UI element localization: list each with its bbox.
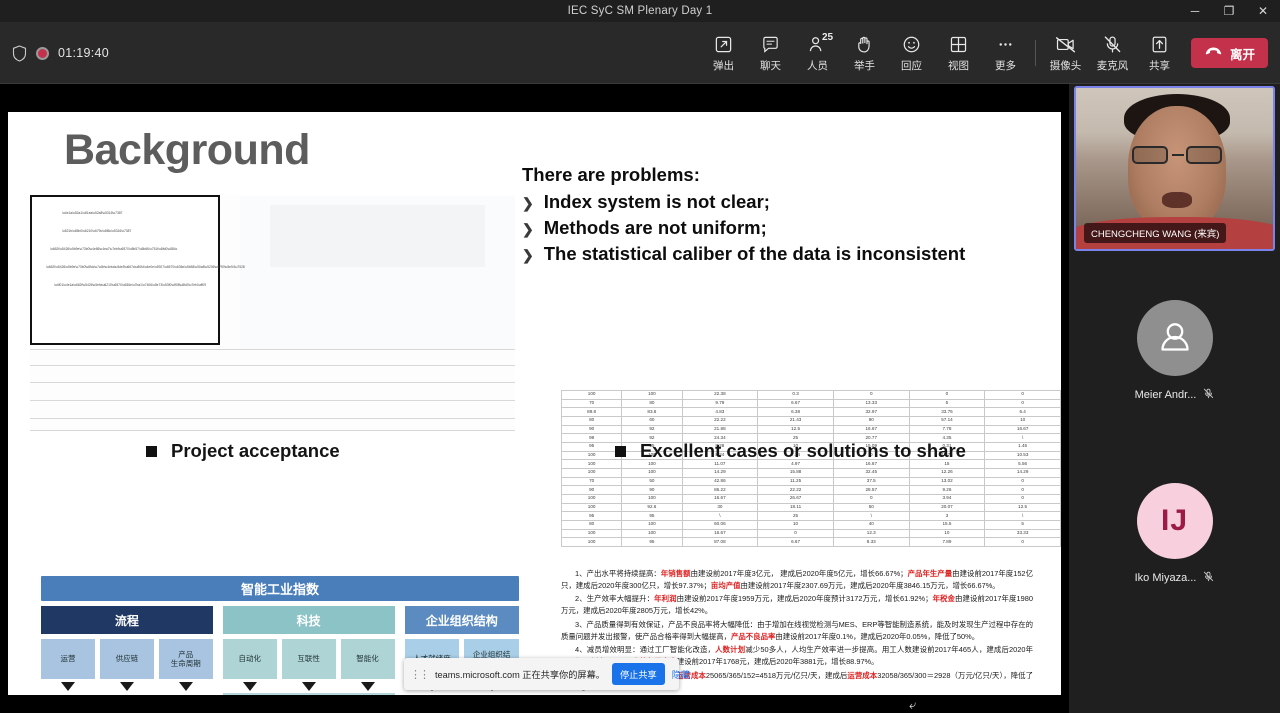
table-row: 1009587.086.678.337.890 — [562, 538, 1061, 547]
people-count: 25 — [822, 32, 833, 43]
table-cell: 14.29 — [682, 469, 758, 478]
shared-content-stage[interactable]: Background \u4e1a\u52a1\u81ea\u52a8\u531… — [0, 84, 1069, 713]
table-row: 806022.2221.439057.1410 — [562, 417, 1061, 426]
mouse-cursor-icon: ⤶ — [909, 697, 916, 713]
subcell: 自动化 — [223, 639, 277, 679]
table-cell: 0 — [833, 391, 909, 400]
table-cell: 86.22 — [682, 486, 758, 495]
table-row: 89.883.64.836.3832.9733.756.4 — [562, 408, 1061, 417]
diagram-column-technology: 科技 自动化 互联性 智能化 制造现场 — [223, 606, 395, 695]
table-cell: 26.67 — [758, 495, 834, 504]
down-arrow-icon — [100, 682, 154, 691]
mouth-shape — [1162, 192, 1192, 208]
table-cell: 70 — [562, 477, 622, 486]
table-row: 909086.2222.2228.579.260 — [562, 486, 1061, 495]
reactions-label: 回应 — [901, 58, 922, 73]
table-cell: 57.14 — [909, 417, 985, 426]
table-cell: 95 — [622, 538, 682, 547]
reactions-button[interactable]: 回应 — [888, 26, 935, 80]
table-cell: 42.86 — [682, 477, 758, 486]
hang-up-icon — [1204, 44, 1223, 62]
toolbar-actions: 弹出 聊天 25 人员 举手 — [700, 22, 1268, 84]
camera-toggle-button[interactable]: 摄像头 — [1042, 26, 1089, 80]
table-cell: 21.88 — [682, 425, 758, 434]
table-cell: 1.45 — [985, 443, 1061, 452]
arrow-bullet-icon: ❯ — [522, 247, 534, 264]
view-label: 视图 — [948, 58, 969, 73]
more-icon — [996, 33, 1015, 55]
table-cell: 10 — [909, 529, 985, 538]
active-speaker-video-tile[interactable]: CHENGCHENG WANG (来宾) — [1074, 86, 1275, 251]
diagram-title: 智能工业指数 — [41, 576, 519, 601]
table-cell: 98 — [562, 434, 622, 443]
recording-indicator-icon — [36, 47, 49, 60]
view-icon — [949, 33, 968, 55]
table-cell: 16.67 — [682, 529, 758, 538]
table-cell: 5 — [909, 399, 985, 408]
table-cell: 15.88 — [758, 469, 834, 478]
data-table: 10010022.380.300070809.796.6713.335089.8… — [561, 390, 1061, 547]
avatar — [1137, 300, 1213, 376]
table-cell: \ — [682, 512, 758, 521]
more-label: 更多 — [995, 58, 1016, 73]
column-arrows — [41, 679, 213, 693]
participant-name: Meier Andr... — [1135, 389, 1197, 401]
table-cell: 50 — [622, 477, 682, 486]
reactions-icon — [902, 33, 921, 55]
table-cell: 100 — [562, 503, 622, 512]
participant-name-row: Meier Andr... — [1135, 386, 1215, 404]
teams-meeting-window: IEC SyC SM Plenary Day 1 ─ ❐ ✕ 01:19:40 … — [0, 0, 1280, 713]
microphone-label: 麦克风 — [1097, 58, 1129, 73]
table-cell: 100 — [562, 529, 622, 538]
table-cell: 32.97 — [833, 408, 909, 417]
list-item: ❯Index system is not clear; — [522, 191, 965, 213]
microphone-toggle-button[interactable]: 麦克风 — [1089, 26, 1136, 80]
table-cell: 28.57 — [833, 486, 909, 495]
numeric-data-table: 10010022.380.300070809.796.6713.335089.8… — [561, 390, 1061, 535]
table-cell: 10 — [758, 521, 834, 530]
subcell: 智能化 — [341, 639, 395, 679]
table-cell: 18.11 — [758, 503, 834, 512]
view-button[interactable]: 视图 — [935, 26, 982, 80]
problems-heading: There are problems: — [522, 164, 965, 186]
table-cell: 100 — [562, 538, 622, 547]
problem-text: The statistical caliber of the data is i… — [544, 243, 966, 265]
participant-tile-0[interactable]: Meier Andr... — [1074, 269, 1275, 434]
paragraph: 1、产出水平将持续提高：年销售额由建设前2017年度3亿元， 建成后2020年度… — [561, 568, 1033, 592]
table-row: 10010016.6726.6703.940 — [562, 495, 1061, 504]
list-item: ❯The statistical caliber of the data is … — [522, 243, 965, 265]
chat-label: 聊天 — [760, 58, 781, 73]
table-row: 70809.796.6713.3350 — [562, 399, 1061, 408]
table-cell: 0 — [985, 399, 1061, 408]
minimize-button[interactable]: ─ — [1178, 0, 1212, 22]
table-cell: 12.3 — [833, 529, 909, 538]
table-cell: 40 — [833, 521, 909, 530]
technology-item-grid: 制造现场 企业营运 制造设施 — [223, 693, 395, 695]
presentation-slide: Background \u4e1a\u52a1\u81ea\u52a8\u531… — [8, 112, 1061, 695]
table-cell: 12.5 — [758, 425, 834, 434]
window-controls: ─ ❐ ✕ — [1178, 0, 1280, 22]
table-cell: 9.26 — [909, 486, 985, 495]
table-cell: 0 — [833, 495, 909, 504]
subcell: 互联性 — [282, 639, 336, 679]
list-item: ❯Methods are not uniform; — [522, 217, 965, 239]
table-cell: 10 — [985, 417, 1061, 426]
table-row: 705042.8611.2537.513.020 — [562, 477, 1061, 486]
table-cell: 95 — [562, 512, 622, 521]
table-cell: 22.22 — [758, 486, 834, 495]
arrow-bullet-icon: ❯ — [522, 195, 534, 212]
pop-out-button[interactable]: 弹出 — [700, 26, 747, 80]
table-cell: 80 — [562, 417, 622, 426]
table-cell: 16.67 — [682, 495, 758, 504]
table-row: 10010022.380.3000 — [562, 391, 1061, 400]
caption-excellent-cases: Excellent cases or solutions to share — [615, 440, 966, 462]
table-cell: 7.89 — [909, 538, 985, 547]
column-header: 企业组织结构 — [405, 606, 520, 634]
table-cell: \ — [985, 434, 1061, 443]
share-screen-button[interactable]: 共享 — [1136, 26, 1183, 80]
down-arrow-icon — [223, 682, 277, 691]
table-cell: 12.26 — [909, 469, 985, 478]
table-cell: 6.38 — [758, 408, 834, 417]
table-cell: 90 — [833, 417, 909, 426]
table-cell: 50 — [833, 503, 909, 512]
table-cell: 100 — [622, 391, 682, 400]
down-arrow-icon — [341, 682, 395, 691]
table-cell: 87.08 — [682, 538, 758, 547]
table-cell: 89.8 — [562, 408, 622, 417]
table-cell: 16.67 — [985, 425, 1061, 434]
table-cell: 5 — [985, 521, 1061, 530]
leave-call-button[interactable]: 离开 — [1191, 38, 1268, 68]
people-label: 人员 — [807, 58, 828, 73]
table-cell: 11.25 — [758, 477, 834, 486]
window-title: IEC SyC SM Plenary Day 1 — [568, 5, 713, 17]
table-cell: 90 — [562, 486, 622, 495]
table-cell: 20.07 — [909, 503, 985, 512]
table-cell: 33.75 — [909, 408, 985, 417]
column-subcells: 运营 供应链 产品 生命周期 — [41, 639, 213, 679]
table-cell: 0 — [985, 495, 1061, 504]
table-cell: 10.53 — [985, 451, 1061, 460]
pop-out-label: 弹出 — [713, 58, 734, 73]
table-cell: 3 — [909, 512, 985, 521]
paragraph: 3、产品质量得到有效保证，产品不良品率将大幅降低：由于增加在线视觉检测与MES、… — [561, 619, 1033, 643]
table-cell: 0.3 — [758, 391, 834, 400]
table-cell: 13.33 — [833, 399, 909, 408]
column-arrows — [223, 679, 395, 693]
pop-out-icon — [714, 33, 733, 55]
table-cell: 100 — [562, 469, 622, 478]
table-row: 909221.8812.516.677.7816.67 — [562, 425, 1061, 434]
problem-text: Methods are not uniform; — [544, 217, 767, 239]
bullet-square-icon — [615, 446, 626, 457]
microphone-off-icon — [1103, 33, 1122, 55]
table-row: 10092.63018.115020.0712.5 — [562, 503, 1061, 512]
hide-notification-link[interactable]: 隐藏 — [672, 667, 690, 681]
screen-share-notification[interactable]: ⋮⋮ teams.microsoft.com 正在共享你的屏幕。 停止共享 隐藏 — [404, 658, 679, 690]
column-header: 科技 — [223, 606, 395, 634]
face-shape — [1128, 106, 1226, 231]
participant-tile-1[interactable]: IJ Iko Miyaza... — [1074, 452, 1275, 617]
muted-microphone-icon — [1203, 386, 1214, 404]
table-cell: 7.78 — [909, 425, 985, 434]
down-arrow-icon — [41, 682, 95, 691]
more-button[interactable]: 更多 — [982, 26, 1029, 80]
table-cell: 15.5 — [909, 521, 985, 530]
table-cell: 14.29 — [985, 469, 1061, 478]
toolbar-left-group: 01:19:40 — [12, 22, 109, 84]
maximize-button[interactable]: ❐ — [1212, 0, 1246, 22]
column-subcells: 自动化 互联性 智能化 — [223, 639, 395, 679]
participant-name: Iko Miyaza... — [1135, 572, 1197, 584]
table-cell: 32.45 — [833, 469, 909, 478]
participants-rail: CHENGCHENG WANG (来宾) Meier Andr... IJ Ik… — [1069, 84, 1280, 713]
camera-off-icon — [1055, 33, 1076, 55]
table-cell: 83.6 — [622, 408, 682, 417]
table-cell: 100 — [622, 529, 682, 538]
table-cell: 100 — [622, 495, 682, 504]
active-speaker-name: CHENGCHENG WANG (来宾) — [1084, 223, 1226, 243]
problem-text: Index system is not clear; — [544, 191, 770, 213]
table-cell: \ — [833, 512, 909, 521]
down-arrow-icon — [282, 682, 336, 691]
table-cell: 100 — [622, 469, 682, 478]
participant-name-row: Iko Miyaza... — [1135, 569, 1215, 587]
problems-list: ❯Index system is not clear; ❯Methods are… — [522, 191, 965, 265]
table-cell: 6.67 — [758, 399, 834, 408]
caption-text: Excellent cases or solutions to share — [640, 440, 966, 462]
caption-project-acceptance: Project acceptance — [146, 440, 340, 462]
drag-handle-icon[interactable]: ⋮⋮ — [410, 668, 428, 681]
paragraph: 2、生产效率大幅提升：年利润由建设前2017年度1959万元，建成后2020年度… — [561, 593, 1033, 617]
muted-microphone-icon — [1203, 569, 1214, 587]
table-cell: 80 — [562, 521, 622, 530]
chat-icon — [761, 33, 780, 55]
table-cell: 95 — [622, 512, 682, 521]
table-cell: 70 — [562, 399, 622, 408]
toolbar-divider — [1035, 40, 1036, 66]
share-label: 共享 — [1149, 58, 1170, 73]
close-button[interactable]: ✕ — [1246, 0, 1280, 22]
table-row: 10010016.67012.31033.33 — [562, 529, 1061, 538]
raise-hand-button[interactable]: 举手 — [841, 26, 888, 80]
table-cell: 33.33 — [985, 529, 1061, 538]
table-cell: 60.06 — [682, 521, 758, 530]
table-cell: 8.33 — [833, 538, 909, 547]
table-cell: 25 — [758, 512, 834, 521]
table-cell: 0 — [985, 486, 1061, 495]
share-screen-icon — [1150, 33, 1169, 55]
table-cell: 6.67 — [758, 538, 834, 547]
meeting-toolbar: 01:19:40 弹出 聊天 25 人员 — [0, 22, 1280, 84]
table-cell: 92 — [622, 425, 682, 434]
meeting-timer: 01:19:40 — [58, 46, 109, 60]
avatar-initials: IJ — [1161, 504, 1188, 538]
slide-title: Background — [64, 126, 310, 175]
table-cell: 0 — [985, 538, 1061, 547]
table-cell: 100 — [562, 460, 622, 469]
leave-label: 离开 — [1230, 44, 1255, 63]
table-cell: 16.67 — [833, 425, 909, 434]
problems-block: There are problems: ❯Index system is not… — [522, 164, 965, 269]
avatar: IJ — [1137, 483, 1213, 559]
table-cell: 100 — [562, 451, 622, 460]
camera-label: 摄像头 — [1050, 58, 1082, 73]
table-cell: 12.5 — [985, 503, 1061, 512]
table-cell: 90 — [562, 425, 622, 434]
table-cell: 9.79 — [682, 399, 758, 408]
table-cell: 60 — [622, 417, 682, 426]
table-cell: 21.43 — [758, 417, 834, 426]
table-cell: 0 — [985, 391, 1061, 400]
document-highlight-box: \u4e1a\u52a1\u81ea\u52a8\u5316\u7387 \u5… — [30, 195, 220, 345]
table-cell: 100 — [562, 495, 622, 504]
column-header: 流程 — [41, 606, 213, 634]
table-cell: 90 — [622, 486, 682, 495]
table-cell: 100 — [562, 391, 622, 400]
table-cell: 37.5 — [833, 477, 909, 486]
table-row: 10010014.2915.8832.4512.2614.29 — [562, 469, 1061, 478]
table-cell: 3.94 — [909, 495, 985, 504]
caption-text: Project acceptance — [171, 440, 340, 462]
item-cell: 制造现场 — [223, 693, 395, 695]
stop-sharing-button[interactable]: 停止共享 — [612, 663, 665, 685]
window-titlebar: IEC SyC SM Plenary Day 1 ─ ❐ ✕ — [0, 0, 1280, 22]
table-cell: 22.22 — [682, 417, 758, 426]
table-cell: 80 — [622, 399, 682, 408]
table-cell: 30 — [682, 503, 758, 512]
table-cell: 6.4 — [985, 408, 1061, 417]
people-button[interactable]: 25 人员 — [794, 26, 841, 80]
share-message: teams.microsoft.com 正在共享你的屏幕。 — [435, 667, 605, 681]
table-cell: 5.56 — [985, 460, 1061, 469]
table-cell: 0 — [985, 477, 1061, 486]
table-cell: 0 — [909, 391, 985, 400]
raise-hand-label: 举手 — [854, 58, 875, 73]
arrow-bullet-icon: ❯ — [522, 221, 534, 238]
down-arrow-icon — [159, 682, 213, 691]
table-cell: 13.02 — [909, 477, 985, 486]
bullet-square-icon — [146, 446, 157, 457]
chat-button[interactable]: 聊天 — [747, 26, 794, 80]
table-cell: 92.6 — [622, 503, 682, 512]
table-row: 8010060.06104015.55 — [562, 521, 1061, 530]
shield-icon — [12, 45, 27, 62]
table-cell: 100 — [622, 521, 682, 530]
table-cell: \ — [985, 512, 1061, 521]
table-cell: 95 — [562, 443, 622, 452]
table-cell: 4.83 — [682, 408, 758, 417]
table-cell: 0 — [758, 529, 834, 538]
subcell: 产品 生命周期 — [159, 639, 213, 679]
subcell: 供应链 — [100, 639, 154, 679]
subcell: 运营 — [41, 639, 95, 679]
table-cell: 22.38 — [682, 391, 758, 400]
raise-hand-icon — [855, 33, 874, 55]
diagram-column-process: 流程 运营 供应链 产品 生命周期 垂直整合 — [41, 606, 213, 695]
table-row: 9595\25\3\ — [562, 512, 1061, 521]
glasses-shape — [1130, 146, 1224, 166]
